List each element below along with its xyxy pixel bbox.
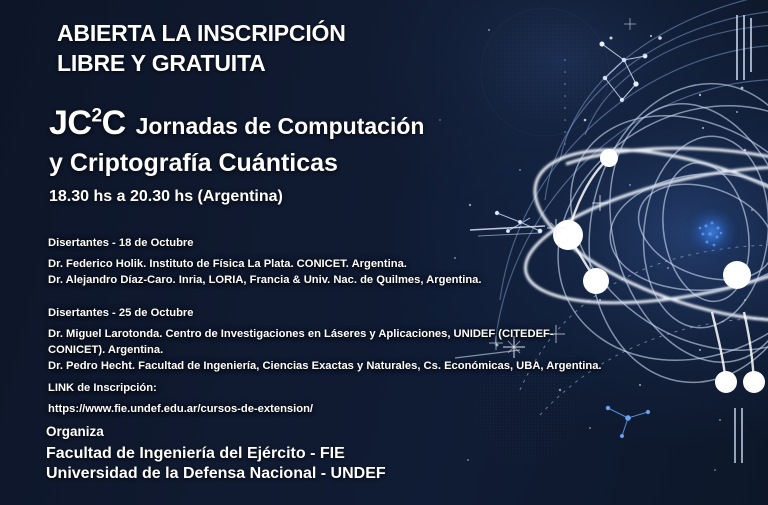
event-acronym: JC2C [49, 104, 126, 142]
speakers-oct18-block: Disertantes - 18 de Octubre Dr. Federico… [48, 236, 482, 289]
headline-line-1: JC2CJornadas de Computación [49, 104, 549, 142]
speaker-row: Dr. Miguel Larotonda. Centro de Investig… [48, 327, 602, 343]
speakers-oct25-header: Disertantes - 25 de Octubre [48, 306, 602, 322]
kicker-heading: ABIERTA LA INSCRIPCIÓN LIBRE Y GRATUITA [57, 18, 346, 79]
event-time: 18.30 hs a 20.30 hs (Argentina) [49, 188, 549, 206]
acronym-superscript: 2 [91, 106, 101, 127]
registration-header: LINK de Inscripción: [48, 381, 313, 397]
headline-subtitle-line-1: Jornadas de Computación [136, 113, 425, 139]
acronym-suffix: C [102, 104, 126, 142]
speakers-oct18-header: Disertantes - 18 de Octubre [48, 236, 482, 252]
poster-canvas: ABIERTA LA INSCRIPCIÓN LIBRE Y GRATUITA … [0, 0, 768, 505]
organizer-row: Universidad de la Defensa Nacional - UND… [46, 464, 386, 484]
speaker-row: Dr. Alejandro Díaz-Caro. Inria, LORIA, F… [48, 273, 482, 289]
organizer-block: Organiza Facultad de Ingeniería del Ejér… [46, 424, 386, 485]
poster-content: ABIERTA LA INSCRIPCIÓN LIBRE Y GRATUITA … [0, 0, 768, 505]
headline-subtitle-line-2: y Criptografía Cuánticas [49, 149, 549, 178]
speakers-oct25-block: Disertantes - 25 de Octubre Dr. Miguel L… [48, 306, 602, 375]
event-headline: JC2CJornadas de Computación y Criptograf… [49, 104, 549, 206]
kicker-line-2: LIBRE Y GRATUITA [57, 48, 346, 78]
registration-url[interactable]: https://www.fie.undef.edu.ar/cursos-de-e… [48, 402, 313, 418]
organizer-row: Facultad de Ingeniería del Ejército - FI… [46, 444, 386, 464]
speaker-row: Dr. Pedro Hecht. Facultad de Ingeniería,… [48, 359, 602, 375]
speaker-row: Dr. Federico Holik. Instituto de Física … [48, 257, 482, 273]
kicker-line-1: ABIERTA LA INSCRIPCIÓN [57, 18, 346, 48]
organizer-header: Organiza [46, 424, 386, 439]
acronym-prefix: JC [49, 104, 91, 142]
speaker-row: CONICET). Argentina. [48, 343, 602, 359]
registration-block: LINK de Inscripción: https://www.fie.und… [48, 381, 313, 418]
